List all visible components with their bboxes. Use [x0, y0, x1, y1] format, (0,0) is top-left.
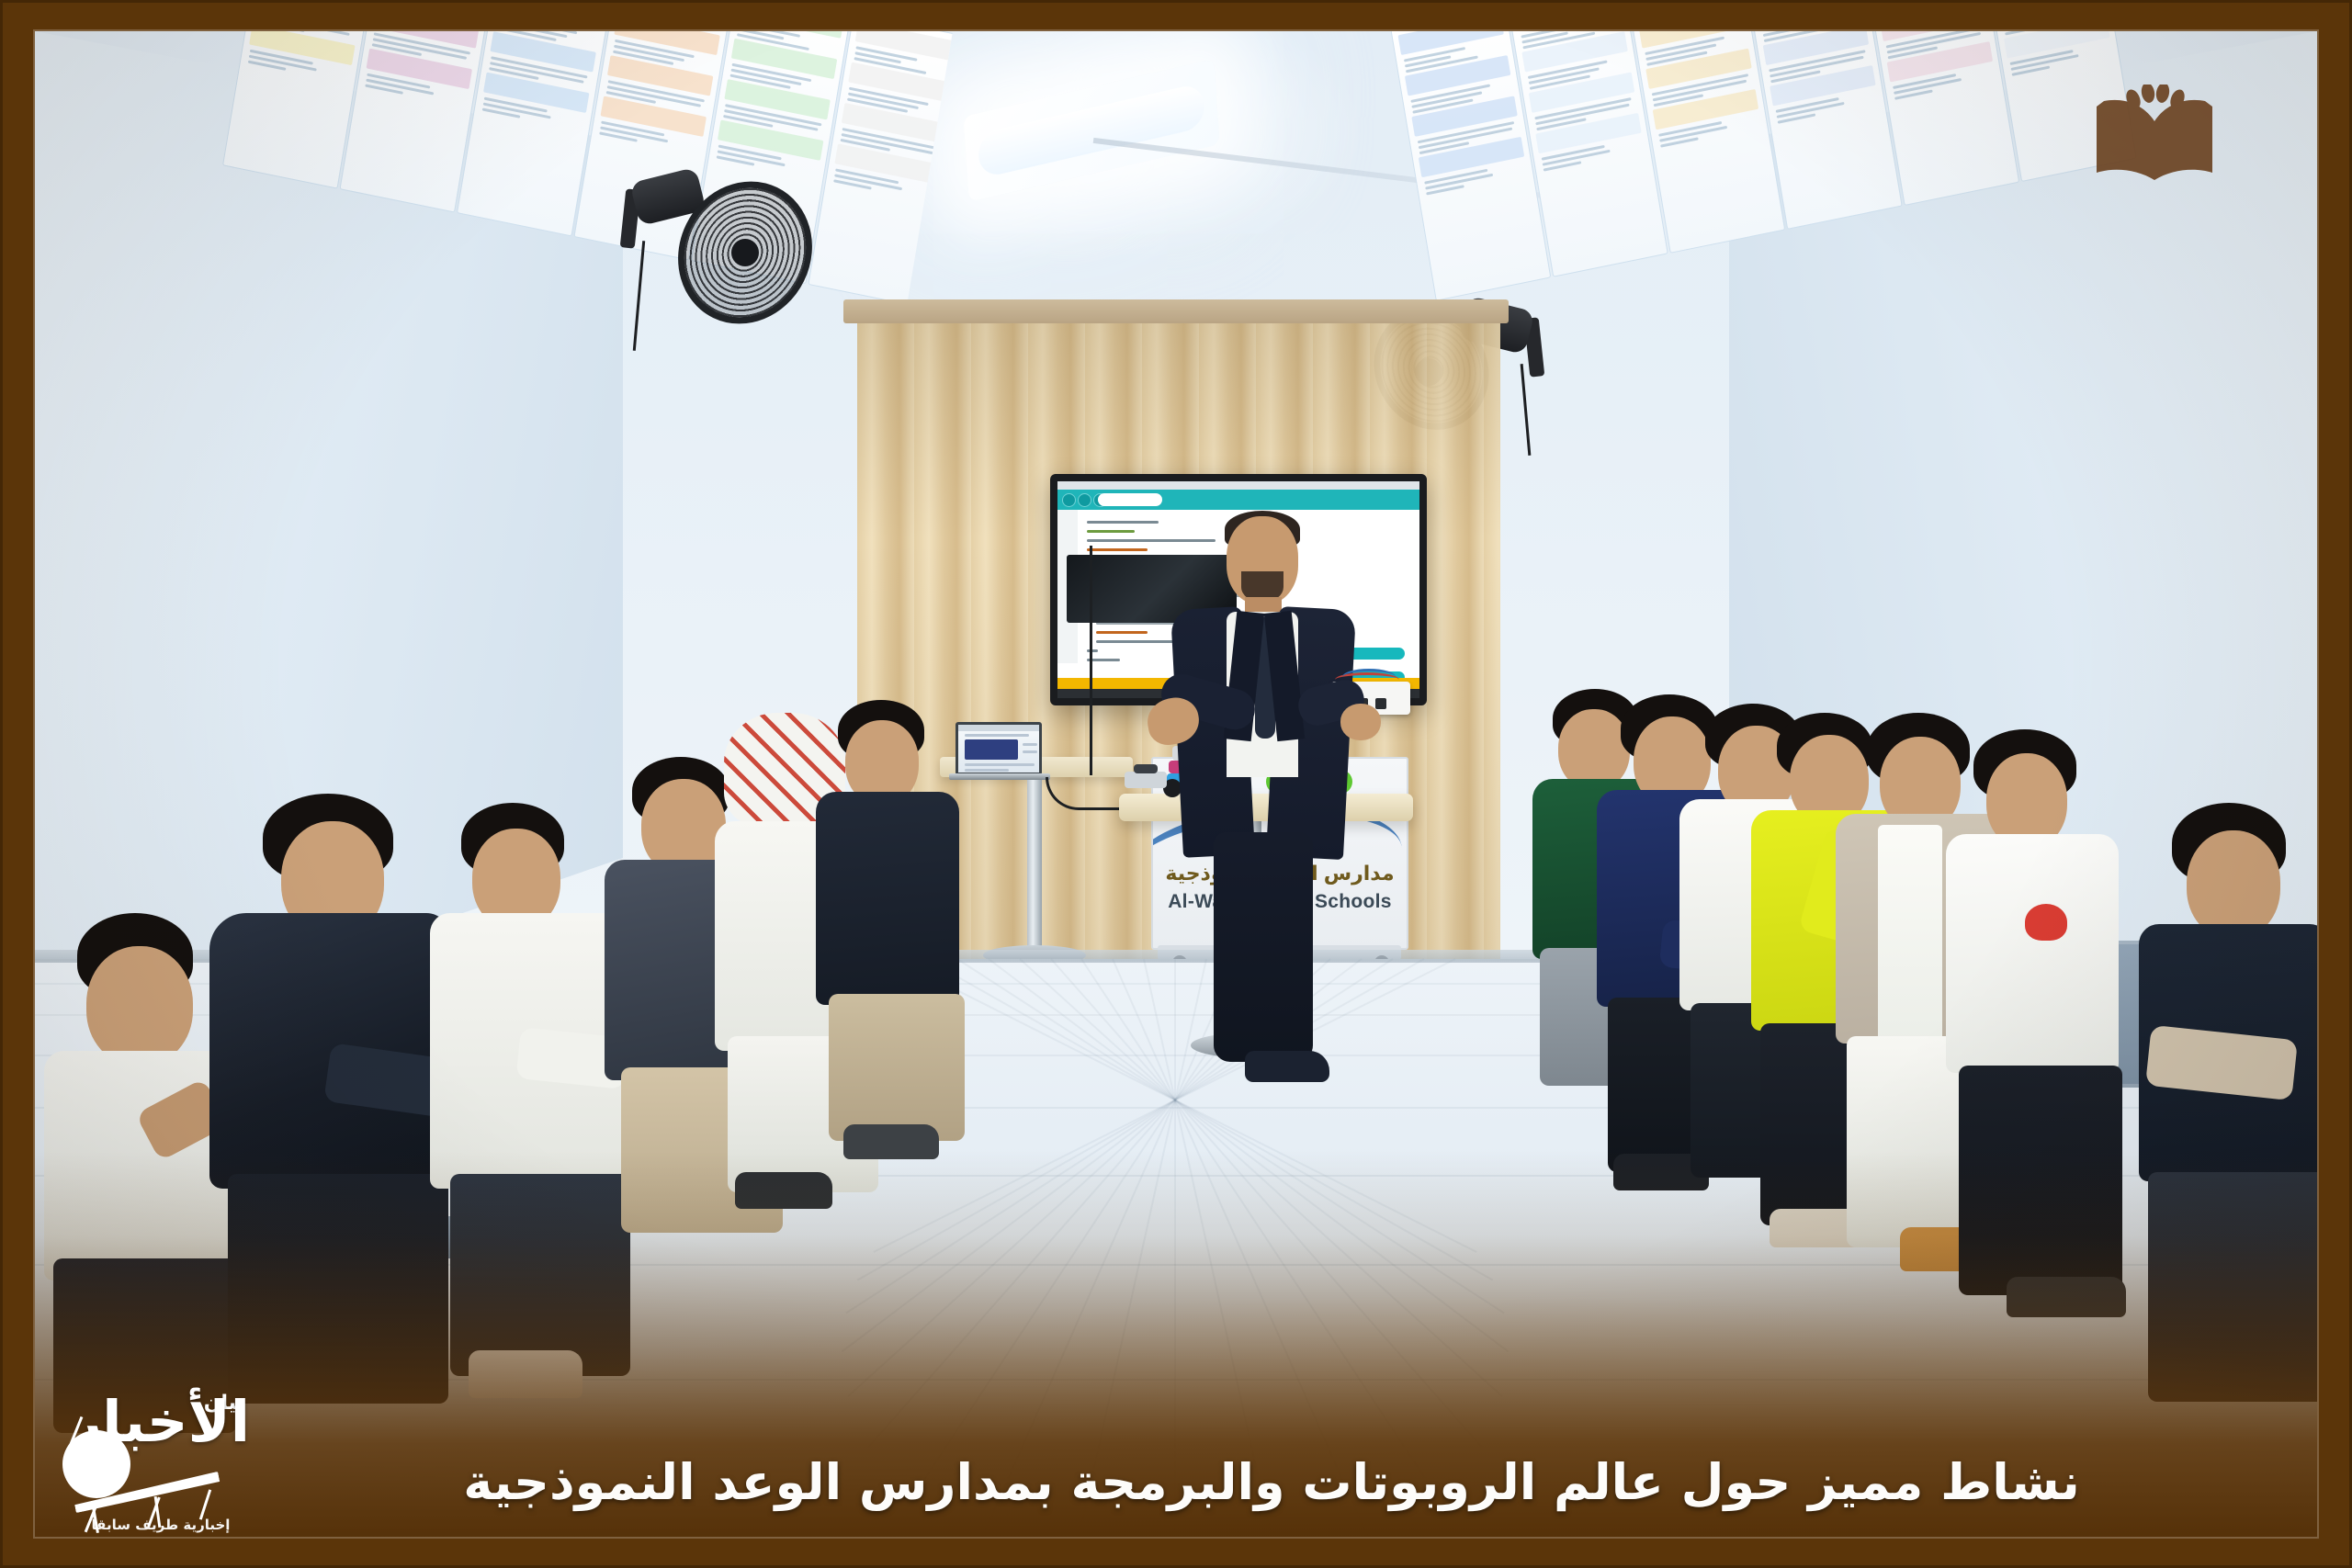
presenter-shoe	[1245, 1051, 1329, 1082]
hanging-cable	[1090, 546, 1092, 775]
presenter	[1160, 509, 1363, 1097]
student-right-7	[2139, 803, 2317, 1446]
news-logo: بيان الأخبار إخبارية طريف سابقاً	[57, 1390, 250, 1537]
news-logo-tagline: إخبارية طريف سابقاً	[83, 1517, 239, 1533]
satellite-dish-icon	[62, 1430, 130, 1498]
classroom-scene: مدارس الوعد النموذجية Al-Waad Model Scho…	[35, 31, 2317, 1537]
photo-area: مدارس الوعد النموذجية Al-Waad Model Scho…	[35, 31, 2317, 1537]
ide-search-field	[1098, 493, 1162, 506]
hoodie-graphic	[2025, 904, 2067, 941]
student-left-6	[816, 700, 981, 1178]
side-table-leg	[1027, 777, 1042, 956]
student-right-6	[1946, 729, 2139, 1317]
open-book-leaves-icon	[2076, 85, 2233, 198]
curtain-rail	[843, 299, 1509, 323]
photo-card-frame: مدارس الوعد النموذجية Al-Waad Model Scho…	[0, 0, 2352, 1568]
presenter-trousers	[1214, 832, 1313, 1062]
caption-text: نشاط مميز حول عالم الروبوتات والبرمجة بم…	[276, 1452, 2267, 1513]
